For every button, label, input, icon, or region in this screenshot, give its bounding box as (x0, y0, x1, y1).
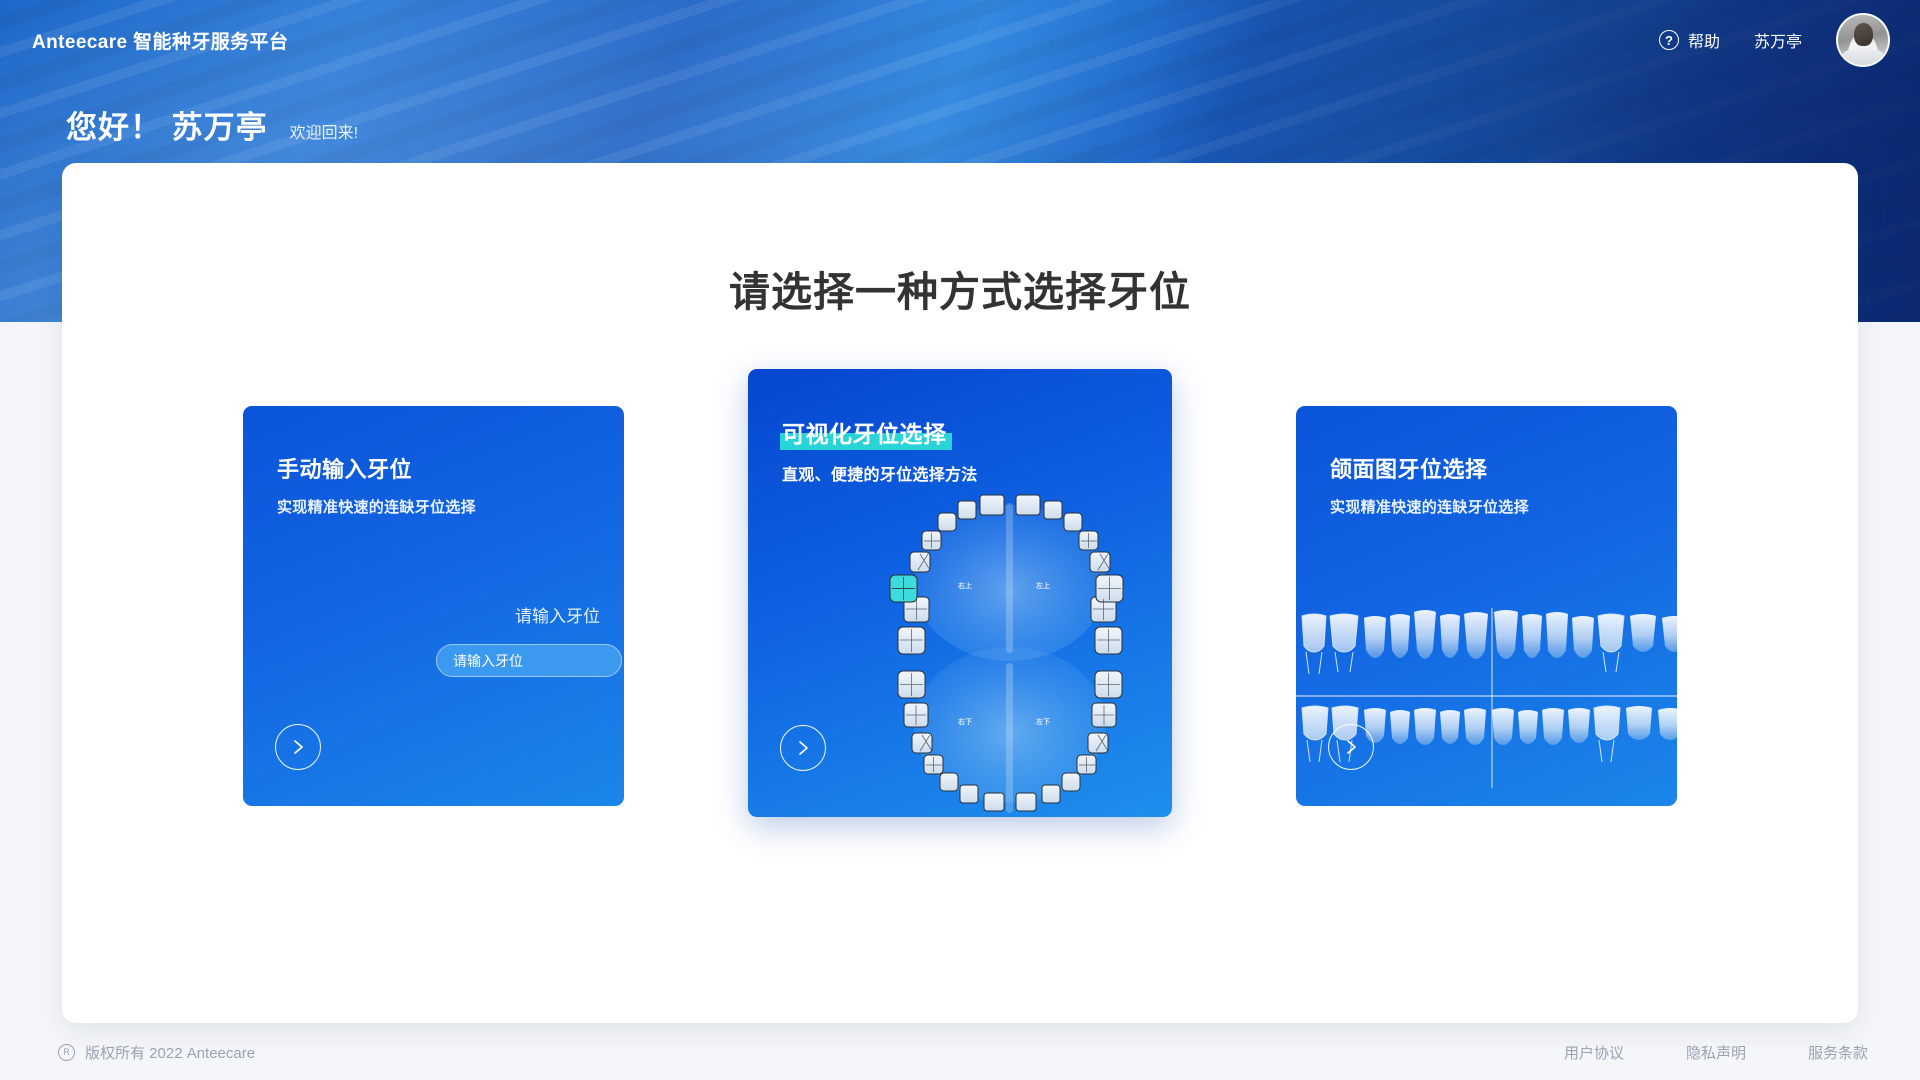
top-navigation-bar: Anteecare 智能种牙服务平台 ? 帮助 苏万亭 (0, 0, 1920, 80)
quadrant-label-upper-right: 右上 (958, 581, 972, 591)
avatar[interactable] (1836, 13, 1890, 67)
quadrant-label-upper-left: 左上 (1036, 581, 1050, 591)
quadrant-label-lower-right: 右下 (958, 717, 972, 727)
card-visual-selection-next-button[interactable] (780, 725, 826, 771)
card-occlusal-chart-title: 颌面图牙位选择 (1330, 452, 1488, 484)
card-visual-selection-title: 可视化牙位选择 (782, 415, 947, 449)
dental-arch-svg (854, 487, 1166, 817)
card-manual-input-subtitle: 实现精准快速的连缺牙位选择 (277, 496, 604, 517)
content-panel: 请选择一种方式选择牙位 手动输入牙位 实现精准快速的连缺牙位选择 请输入牙位 (62, 163, 1858, 1023)
card-visual-selection[interactable]: 可视化牙位选择 直观、便捷的牙位选择方法 (748, 369, 1172, 817)
tooth-number-input[interactable] (436, 644, 622, 677)
card-manual-input[interactable]: 手动输入牙位 实现精准快速的连缺牙位选择 请输入牙位 (243, 406, 624, 806)
card-visual-selection-title-text: 可视化牙位选择 (782, 421, 947, 447)
tooth-input-label: 请输入牙位 (515, 602, 600, 627)
card-manual-input-title: 手动输入牙位 (277, 452, 412, 484)
avatar-shoulders (1842, 48, 1884, 65)
card-manual-input-header: 手动输入牙位 实现精准快速的连缺牙位选择 (277, 452, 604, 517)
card-occlusal-chart[interactable]: 颌面图牙位选择 实现精准快速的连缺牙位选择 (1296, 406, 1677, 806)
card-occlusal-chart-header: 颌面图牙位选择 实现精准快速的连缺牙位选择 (1330, 452, 1657, 517)
footer-link-privacy-statement[interactable]: 隐私声明 (1686, 1042, 1746, 1063)
copyright-text: 版权所有 2022 Anteecare (85, 1042, 255, 1063)
avatar-head (1854, 23, 1873, 46)
help-label: 帮助 (1688, 28, 1720, 52)
chevron-right-icon (1341, 737, 1361, 757)
card-occlusal-chart-subtitle: 实现精准快速的连缺牙位选择 (1330, 496, 1657, 517)
question-circle-icon: ? (1659, 30, 1679, 50)
chevron-right-icon (288, 737, 308, 757)
footer-links: 用户协议 隐私声明 服务条款 (1564, 1042, 1868, 1063)
card-occlusal-chart-next-button[interactable] (1328, 724, 1374, 770)
card-visual-selection-subtitle: 直观、便捷的牙位选择方法 (782, 461, 1152, 485)
greeting-main: 您好！ 苏万亭 (66, 102, 268, 147)
greeting-block: 您好！ 苏万亭 欢迎回来! (66, 102, 358, 147)
page-title: 请选择一种方式选择牙位 (62, 258, 1858, 318)
dental-arch-diagram[interactable]: 右上 左上 右下 左下 (854, 487, 1166, 817)
footer-link-terms-of-service[interactable]: 服务条款 (1808, 1042, 1868, 1063)
quadrant-label-lower-left: 左下 (1036, 717, 1050, 727)
copyright-block: R 版权所有 2022 Anteecare (58, 1042, 255, 1063)
footer: R 版权所有 2022 Anteecare 用户协议 隐私声明 服务条款 (0, 1024, 1920, 1080)
user-name-label[interactable]: 苏万亭 (1754, 28, 1802, 52)
registered-mark-icon: R (58, 1044, 75, 1061)
chevron-right-icon (793, 738, 813, 758)
app-root: Anteecare 智能种牙服务平台 ? 帮助 苏万亭 您好！ 苏万亭 欢迎回来… (0, 0, 1920, 1080)
brand-title: Anteecare 智能种牙服务平台 (32, 27, 288, 54)
topbar-actions: ? 帮助 苏万亭 (1659, 13, 1890, 67)
card-manual-input-next-button[interactable] (275, 724, 321, 770)
footer-link-user-agreement[interactable]: 用户协议 (1564, 1042, 1624, 1063)
greeting-sub: 欢迎回来! (290, 119, 358, 143)
card-visual-selection-header: 可视化牙位选择 直观、便捷的牙位选择方法 (782, 415, 1152, 485)
help-button[interactable]: ? 帮助 (1659, 28, 1720, 52)
